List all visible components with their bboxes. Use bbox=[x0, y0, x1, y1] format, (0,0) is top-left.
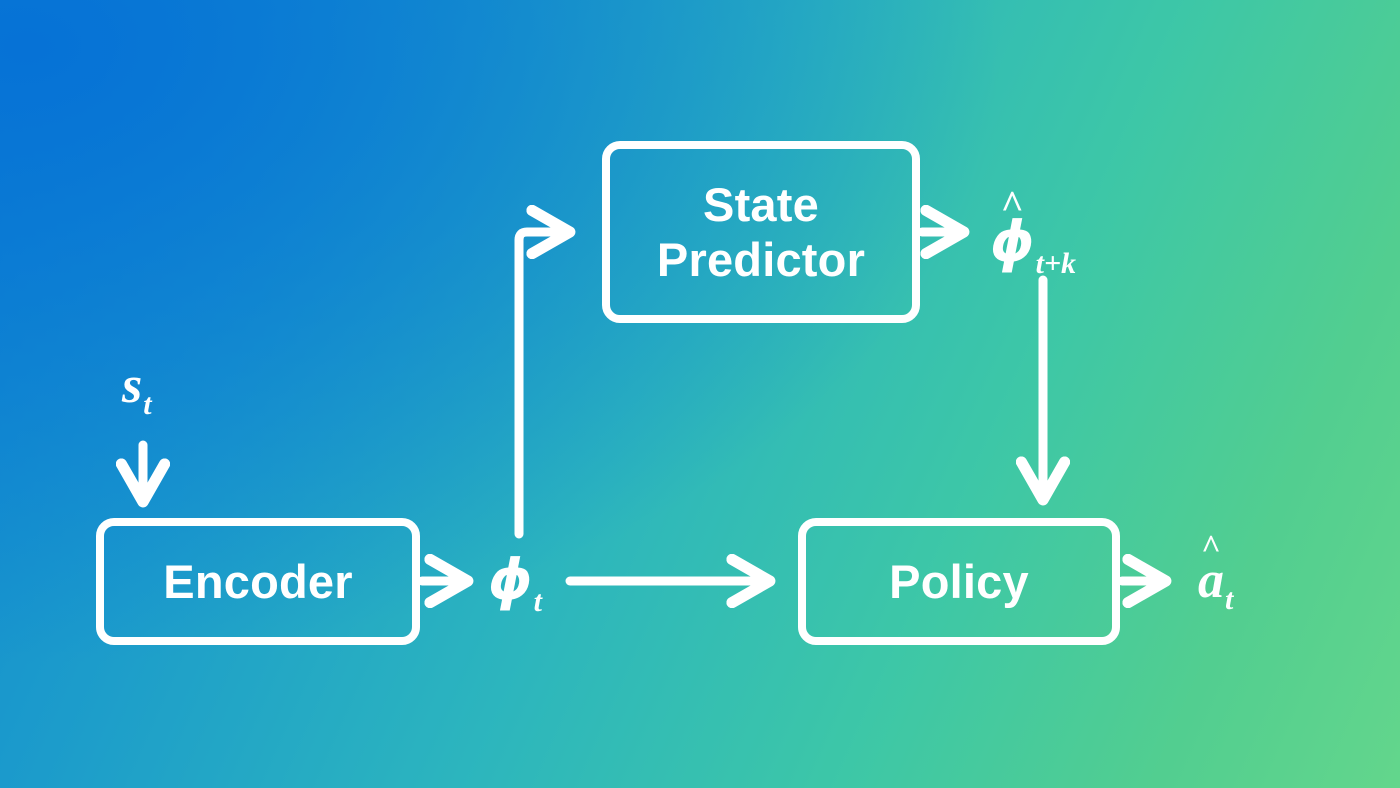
edge-phi-to-state-predictor bbox=[519, 232, 568, 534]
node-policy[interactable]: Policy bbox=[798, 518, 1120, 645]
label-phi-t-symbol: ϕ bbox=[488, 548, 533, 613]
hat-accent-icon: ^ bbox=[1201, 531, 1221, 565]
label-phi-hat-t-plus-k: ^ϕt+k bbox=[990, 215, 1075, 271]
label-s-t-symbol: s bbox=[122, 357, 142, 414]
label-s-t: st bbox=[122, 360, 151, 412]
node-state-predictor[interactable]: State Predictor bbox=[602, 141, 920, 323]
node-encoder[interactable]: Encoder bbox=[96, 518, 420, 645]
label-phi-t: ϕt bbox=[488, 553, 541, 609]
node-policy-label: Policy bbox=[889, 554, 1029, 609]
diagram-canvas: Encoder State Predictor Policy st ϕt ^ϕt… bbox=[0, 0, 1400, 788]
node-encoder-label: Encoder bbox=[163, 554, 352, 609]
label-phi-t-subscript: t bbox=[534, 585, 542, 618]
label-phi-hat-group: ^ϕ bbox=[990, 215, 1035, 271]
label-a-hat-subscript: t bbox=[1225, 583, 1233, 616]
label-a-hat-t: ^at bbox=[1198, 555, 1232, 607]
label-phi-hat-subscript: t+k bbox=[1036, 247, 1076, 280]
node-state-predictor-label: State Predictor bbox=[657, 177, 865, 288]
hat-accent-icon: ^ bbox=[1001, 185, 1024, 225]
diagram-connectors-layer bbox=[0, 0, 1400, 788]
label-a-hat-group: ^a bbox=[1198, 555, 1224, 607]
label-s-t-subscript: t bbox=[143, 388, 151, 421]
